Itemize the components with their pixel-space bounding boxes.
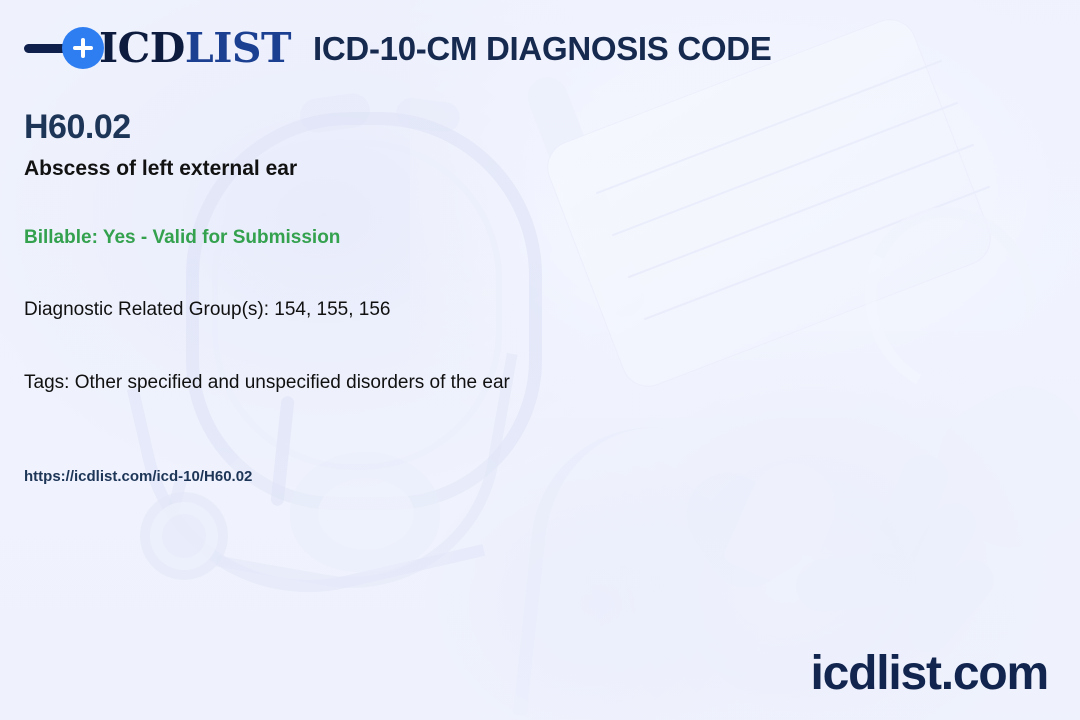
page-header: ICDLIST ICD-10-CM DIAGNOSIS CODE: [0, 0, 1080, 96]
footer-brand-watermark: icdlist.com: [810, 650, 1048, 698]
thumb-icon: [794, 550, 919, 614]
stethoscope-diaphragm-inner-icon: [162, 514, 206, 558]
icdlist-logo[interactable]: ICDLIST: [24, 27, 291, 69]
background-wash-bottom-center: [410, 446, 777, 720]
stethoscope-diaphragm-mid-icon: [150, 502, 218, 570]
billable-status: Billable: Yes - Valid for Submission: [24, 226, 1024, 250]
logo-wordmark-icd: ICD: [99, 24, 185, 72]
logo-wordmark: ICDLIST: [99, 28, 291, 69]
diagnosis-code: H60.02: [24, 108, 1024, 146]
page-title: ICD-10-CM DIAGNOSIS CODE: [313, 32, 772, 65]
finger-icon: [884, 495, 983, 623]
plus-vertical-bar: [81, 38, 85, 58]
stethoscope-bell-secondary-inner-icon: [318, 478, 414, 550]
finger-icon: [900, 551, 1002, 661]
code-details: H60.02 Abscess of left external ear Bill…: [24, 108, 1024, 487]
tags-line: Tags: Other specified and unspecified di…: [24, 371, 1024, 396]
source-url[interactable]: https://icdlist.com/icd-10/H60.02: [24, 467, 1024, 487]
icd-code-card: ICDLIST ICD-10-CM DIAGNOSIS CODE H60.02 …: [0, 0, 1080, 720]
logo-wordmark-list: LIST: [185, 24, 291, 72]
diagnosis-description: Abscess of left external ear: [24, 156, 1024, 182]
diagnostic-related-groups: Diagnostic Related Group(s): 154, 155, 1…: [24, 298, 1024, 323]
plus-circle-icon: [62, 27, 104, 69]
stethoscope-diaphragm-icon: [140, 492, 228, 580]
